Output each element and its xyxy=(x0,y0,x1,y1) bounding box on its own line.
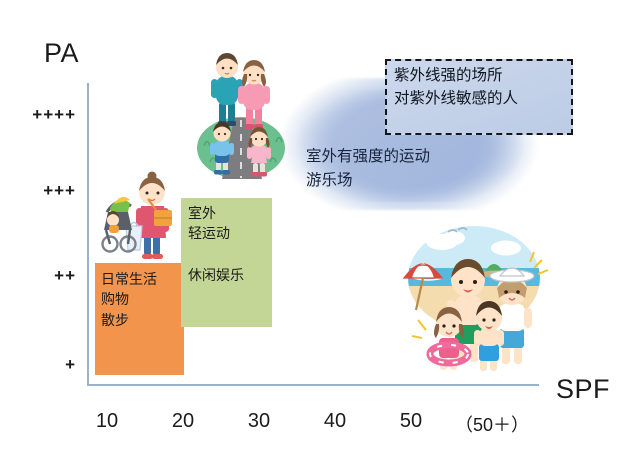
y-axis-title: PA xyxy=(44,38,79,69)
x-axis-line xyxy=(87,384,539,386)
x-tick-40: 40 xyxy=(300,410,370,433)
mother-with-stroller-illustration xyxy=(98,168,182,272)
beach-family-illustration xyxy=(396,218,552,378)
outdoor-light-label-top: 室外 轻运动 xyxy=(188,203,230,244)
outdoor-intense-label: 室外有强度的运动 游乐场 xyxy=(306,145,430,193)
y-axis-line xyxy=(87,83,89,385)
y-tick-4: ++++ xyxy=(16,105,76,125)
x-axis-title: SPF xyxy=(556,374,610,405)
y-tick-2: ++ xyxy=(16,266,76,286)
x-tick-10: 10 xyxy=(72,410,142,433)
x-tick-50plus: （50＋） xyxy=(455,411,525,437)
y-tick-1: + xyxy=(16,355,76,375)
x-tick-20: 20 xyxy=(148,410,218,433)
daily-life-label: 日常生活 购物 散步 xyxy=(101,269,157,330)
family-walking-park-illustration xyxy=(192,50,290,182)
x-tick-50: 50 xyxy=(376,410,446,433)
strong-uv-callout-label: 紫外线强的场所 对紫外线敏感的人 xyxy=(394,64,569,111)
chart-canvas: 日常生活 购物 散步 室外 轻运动 休闲娱乐 室外有强度的运动 游乐场 紫外线强… xyxy=(0,0,640,453)
outdoor-light-label-bottom: 休闲娱乐 xyxy=(188,265,244,285)
y-tick-3: +++ xyxy=(16,181,76,201)
x-tick-30: 30 xyxy=(224,410,294,433)
